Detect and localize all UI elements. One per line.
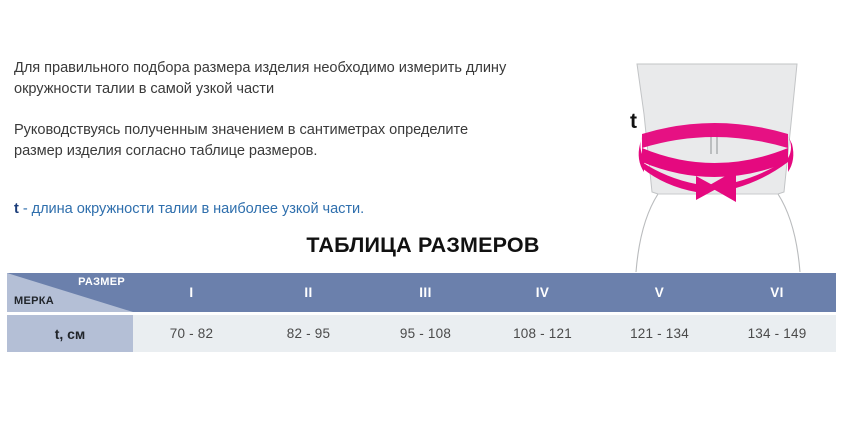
column-header-3: III (367, 273, 484, 312)
table-row: t, см 70 - 82 82 - 95 95 - 108 108 - 121… (7, 315, 836, 352)
legend-description: - длина окружности талии в наиболее узко… (19, 201, 364, 217)
header-corner-cell: РАЗМЕР МЕРКА (7, 273, 133, 312)
size-chart-table: РАЗМЕР МЕРКА I II III IV V VI t, см 70 -… (7, 273, 836, 352)
value-cell-size-3: 95 - 108 (367, 315, 484, 352)
measurement-legend: t - длина окружности талии в наиболее уз… (14, 199, 364, 219)
size-table-title: ТАБЛИЦА РАЗМЕРОВ (0, 233, 846, 258)
column-header-5: V (601, 273, 718, 312)
value-cell-size-2: 82 - 95 (250, 315, 367, 352)
value-cell-size-6: 134 - 149 (718, 315, 836, 352)
instructions-block: Для правильного подбора размера изделия … (14, 58, 514, 162)
column-header-2: II (250, 273, 367, 312)
value-cell-size-4: 108 - 121 (484, 315, 601, 352)
value-cell-size-5: 121 - 134 (601, 315, 718, 352)
table-header-row: РАЗМЕР МЕРКА I II III IV V VI (7, 273, 836, 312)
instruction-paragraph-2: Руководствуясь полученным значением в са… (14, 120, 514, 162)
column-header-1: I (133, 273, 250, 312)
value-cell-size-1: 70 - 82 (133, 315, 250, 352)
row-label-waist: t, см (7, 315, 133, 352)
column-header-4: IV (484, 273, 601, 312)
header-label-size: РАЗМЕР (78, 276, 125, 288)
waist-measure-label-t: t (630, 111, 637, 132)
instruction-paragraph-1: Для правильного подбора размера изделия … (14, 58, 514, 100)
column-header-6: VI (718, 273, 836, 312)
header-label-measure: МЕРКА (14, 295, 54, 307)
